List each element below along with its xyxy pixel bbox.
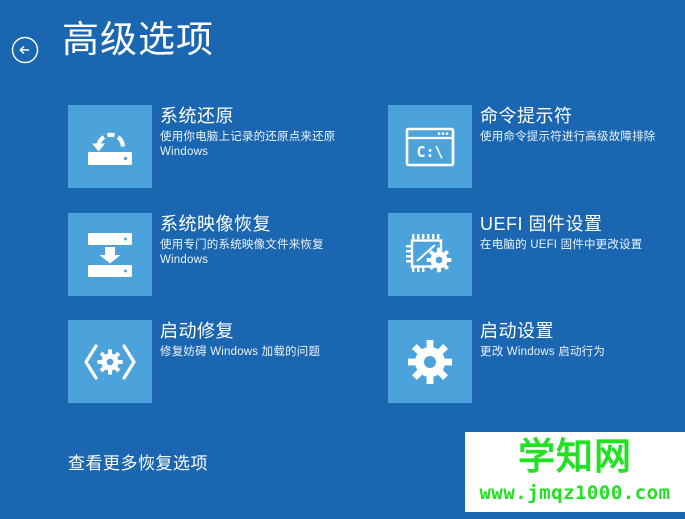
option-text: 启动修复 修复妨碍 Windows 加载的问题 [160,320,375,360]
back-button[interactable] [11,36,39,64]
option-description: 更改 Windows 启动行为 [480,345,685,360]
option-title: 系统还原 [160,105,375,128]
uefi-firmware-icon [404,231,456,279]
command-prompt-icon: C:\ [405,126,455,168]
option-title: 启动设置 [480,320,685,343]
option-tile [68,213,152,296]
option-description: 在电脑的 UEFI 固件中更改设置 [480,238,685,253]
option-text: 命令提示符 使用命令提示符进行高级故障排除 [480,105,685,145]
option-title: 系统映像恢复 [160,213,375,236]
option-command-prompt[interactable]: C:\ 命令提示符 使用命令提示符进行高级故障排除 [388,105,685,188]
back-arrow-circle-icon [11,36,39,64]
option-title: UEFI 固件设置 [480,213,685,236]
option-title: 命令提示符 [480,105,685,128]
option-system-restore[interactable]: 系统还原 使用你电脑上记录的还原点来还原 Windows [68,105,368,188]
option-tile [388,213,472,296]
see-more-recovery-options-link[interactable]: 查看更多恢复选项 [68,452,208,476]
startup-repair-icon [82,342,138,382]
page-title: 高级选项 [62,16,214,64]
option-tile [388,320,472,403]
option-description: 修复妨碍 Windows 加载的问题 [160,345,375,360]
watermark: 学知网 www.jmqz1000.com [465,432,685,512]
advanced-options-grid: 系统还原 使用你电脑上记录的还原点来还原 Windows C:\ 命令提示符 使… [0,105,685,405]
header: 高级选项 [0,0,685,96]
option-text: 系统映像恢复 使用专门的系统映像文件来恢复 Windows [160,213,375,268]
option-startup-repair[interactable]: 启动修复 修复妨碍 Windows 加载的问题 [68,320,368,403]
startup-settings-icon [404,336,456,388]
watermark-title: 学知网 [465,434,685,480]
option-tile [68,105,152,188]
option-system-image-recovery[interactable]: 系统映像恢复 使用专门的系统映像文件来恢复 Windows [68,213,368,296]
option-startup-settings[interactable]: 启动设置 更改 Windows 启动行为 [388,320,685,403]
option-title: 启动修复 [160,320,375,343]
system-restore-icon [84,124,136,170]
option-tile [68,320,152,403]
option-tile: C:\ [388,105,472,188]
option-uefi-firmware-settings[interactable]: UEFI 固件设置 在电脑的 UEFI 固件中更改设置 [388,213,685,296]
option-text: 系统还原 使用你电脑上记录的还原点来还原 Windows [160,105,375,160]
option-description: 使用命令提示符进行高级故障排除 [480,130,685,145]
watermark-url: www.jmqz1000.com [465,481,685,505]
option-text: UEFI 固件设置 在电脑的 UEFI 固件中更改设置 [480,213,685,253]
svg-text:C:\: C:\ [416,143,443,161]
option-text: 启动设置 更改 Windows 启动行为 [480,320,685,360]
option-description: 使用专门的系统映像文件来恢复 Windows [160,238,375,268]
option-description: 使用你电脑上记录的还原点来还原 Windows [160,130,375,160]
system-image-recovery-icon [85,231,135,279]
